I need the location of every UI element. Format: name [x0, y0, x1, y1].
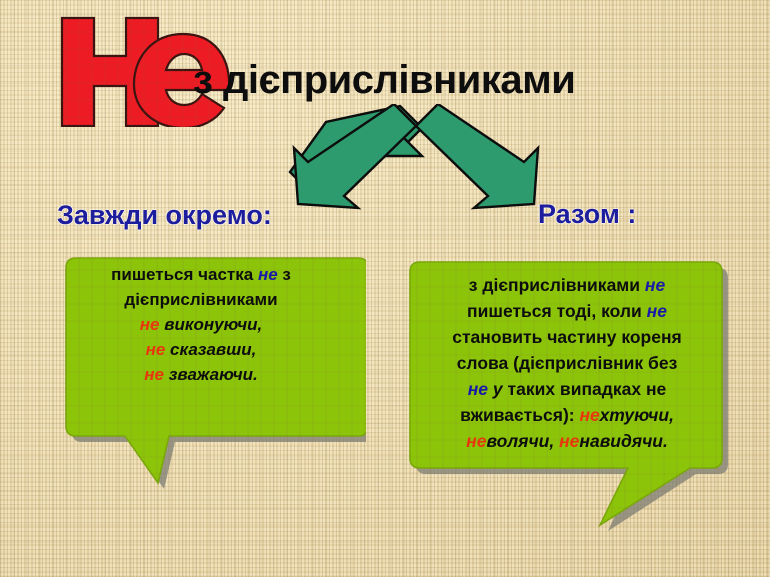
callout-line: дієприслівниками: [52, 287, 350, 312]
separate-rule-text: пишеться частка не здієприслівникамине в…: [36, 262, 366, 387]
together-rule-callout: з дієприслівниками непишеться тоді, коли…: [404, 256, 730, 541]
text-segment: з: [278, 265, 291, 284]
text-segment: вживається):: [460, 405, 579, 425]
callout-line: пишеться частка не з: [52, 262, 350, 287]
text-segment: становить частину кореня: [452, 327, 682, 347]
callout-line: з дієприслівниками не: [418, 272, 716, 298]
text-segment: не: [468, 379, 488, 399]
text-segment: пишеться тоді, коли: [467, 301, 647, 321]
text-segment: дієприслівниками: [124, 290, 277, 309]
callout-line: не виконуючи,: [52, 312, 350, 337]
callout-line: неволячи, ненавидячи.: [418, 428, 716, 454]
callout-line: слова (дієприслівник без: [418, 350, 716, 376]
together-rule-text: з дієприслівниками непишеться тоді, коли…: [404, 272, 730, 454]
text-segment: не: [645, 275, 665, 295]
separate-rule-callout: пишеться частка не здієприслівникамине в…: [36, 252, 366, 492]
text-segment: не: [146, 340, 166, 359]
callout-line: становить частину кореня: [418, 324, 716, 350]
text-segment: навидячи.: [579, 431, 667, 451]
text-segment: пишеться частка: [111, 265, 258, 284]
text-segment: хтуючи,: [600, 405, 674, 425]
callout-line: не зважаючи.: [52, 362, 350, 387]
text-segment: виконуючи,: [159, 315, 262, 334]
text-segment: не: [579, 405, 599, 425]
text-segment: не: [559, 431, 579, 451]
callout-line: не у таких випадках не: [418, 376, 716, 402]
text-segment: слова (дієприслівник без: [457, 353, 678, 373]
heading-separate: Завжди окремо:: [57, 200, 272, 231]
text-segment: не: [258, 265, 278, 284]
text-segment: волячи,: [486, 431, 554, 451]
text-segment: зважаючи.: [164, 365, 258, 384]
text-segment: з дієприслівниками: [469, 275, 645, 295]
callout-line: пишеться тоді, коли не: [418, 298, 716, 324]
text-segment: у: [493, 379, 503, 399]
slide-canvas: з дієприслівниками Завжди окремо: Разом …: [0, 0, 770, 577]
double-down-arrow-icon: [272, 104, 562, 216]
text-segment: сказавши,: [165, 340, 256, 359]
text-segment: не: [140, 315, 160, 334]
text-segment: не: [647, 301, 667, 321]
page-title: з дієприслівниками: [193, 58, 575, 103]
callout-line: вживається): нехтуючи,: [418, 402, 716, 428]
callout-line: не сказавши,: [52, 337, 350, 362]
text-segment: не: [466, 431, 486, 451]
text-segment: не: [144, 365, 164, 384]
text-segment: таких випадках не: [503, 379, 667, 399]
